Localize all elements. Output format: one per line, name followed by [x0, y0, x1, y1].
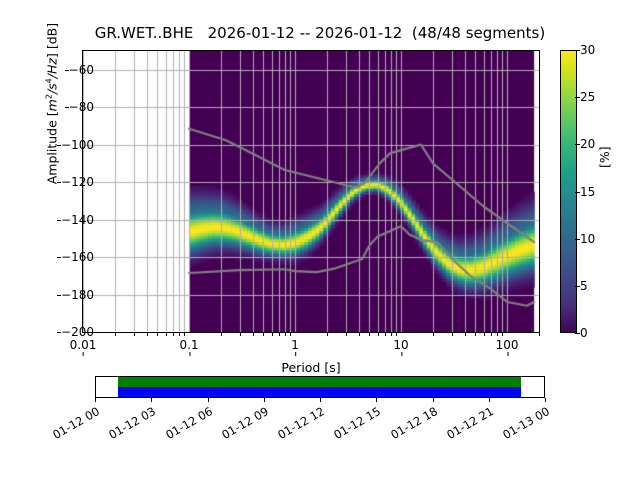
x-minor-tick	[290, 333, 291, 336]
x-minor-tick	[240, 333, 241, 336]
x-tick-label: 100	[496, 338, 519, 352]
y-tick-mark	[57, 257, 61, 258]
x-minor-tick	[369, 333, 370, 336]
timeline-tick-label: 01-12 21	[439, 404, 496, 445]
colorbar-tick-mark	[575, 97, 580, 98]
timeline-tick-label: 01-12 09	[214, 404, 271, 445]
x-minor-tick	[272, 333, 273, 336]
timeline-tick-label: 01-12 00	[45, 404, 102, 445]
colorbar-tick-label: 10	[580, 232, 595, 246]
timeline-blue-band	[118, 387, 521, 397]
x-tick-mark	[295, 352, 296, 356]
timeline-tick-label: 01-12 18	[382, 404, 439, 445]
x-minor-tick	[157, 333, 158, 336]
y-tick-mark	[57, 182, 61, 183]
x-minor-tick	[147, 333, 148, 336]
x-axis-label: Period [s]	[82, 360, 540, 375]
timeline-tick-label: 01-12 15	[326, 404, 383, 445]
y-tick-label: −60	[69, 63, 94, 77]
y-tick-label: −180	[61, 288, 94, 302]
colorbar-tick-mark	[575, 286, 580, 287]
x-minor-tick	[221, 333, 222, 336]
x-tick-label: 0.01	[70, 338, 97, 352]
timeline-tick-label: 01-13 00	[495, 404, 552, 445]
y-tick-mark	[65, 107, 69, 108]
y-tick-mark	[57, 220, 61, 221]
timeline-tick-mark	[376, 398, 377, 402]
y-tick-mark	[57, 295, 61, 296]
x-minor-tick	[346, 333, 347, 336]
x-minor-tick	[134, 333, 135, 336]
page-title: GR.WET..BHE 2026-01-12 -- 2026-01-12 (48…	[0, 24, 640, 42]
x-minor-tick	[279, 333, 280, 336]
y-tick-label: −80	[69, 100, 94, 114]
x-minor-tick	[475, 333, 476, 336]
x-minor-tick	[433, 333, 434, 336]
colorbar-tick-label: 0	[580, 326, 588, 340]
timeline-tick-label: 01-12 12	[270, 404, 327, 445]
ppsd-canvas	[83, 51, 539, 332]
colorbar-tick-label: 5	[580, 279, 588, 293]
x-tick-mark	[401, 352, 402, 356]
timeline-tick-mark	[208, 398, 209, 402]
timeline-tick-mark	[95, 398, 96, 402]
x-minor-tick	[253, 333, 254, 336]
x-minor-tick	[491, 333, 492, 336]
timeline-tick-mark	[320, 398, 321, 402]
x-minor-tick	[327, 333, 328, 336]
timeline-tick-mark	[264, 398, 265, 402]
x-minor-tick	[184, 333, 185, 336]
y-tick-label: −200	[61, 325, 94, 339]
x-minor-tick	[173, 333, 174, 336]
x-tick-mark	[83, 352, 84, 356]
timeline-tick-label: 01-12 03	[101, 404, 158, 445]
x-minor-tick	[497, 333, 498, 336]
colorbar-tick-label: 30	[580, 43, 595, 57]
x-minor-tick	[385, 333, 386, 336]
colorbar-tick-mark	[575, 239, 580, 240]
x-tick-label: 1	[291, 338, 299, 352]
y-tick-label: −140	[61, 213, 94, 227]
x-minor-tick	[179, 333, 180, 336]
y-tick-label: −100	[61, 138, 94, 152]
colorbar-tick-mark	[575, 333, 580, 334]
colorbar-tick-mark	[575, 144, 580, 145]
x-minor-tick	[263, 333, 264, 336]
colorbar-tick-label: 20	[580, 137, 595, 151]
x-minor-tick	[502, 333, 503, 336]
timeline-green-band	[118, 377, 521, 387]
x-tick-mark	[507, 352, 508, 356]
colorbar-tick-mark	[575, 192, 580, 193]
timeline-tick-mark	[151, 398, 152, 402]
x-tick-label: 10	[393, 338, 408, 352]
x-tick-label: 0.1	[179, 338, 198, 352]
x-minor-tick	[391, 333, 392, 336]
timeline-tick-mark	[489, 398, 490, 402]
colorbar-tick-mark	[575, 50, 580, 51]
x-tick-mark	[189, 352, 190, 356]
colorbar-tick-label: 25	[580, 90, 595, 104]
timeline-coverage-bar[interactable]	[95, 376, 545, 398]
timeline-tick-mark	[545, 398, 546, 402]
x-minor-tick	[115, 333, 116, 336]
x-minor-tick	[285, 333, 286, 336]
x-minor-tick	[452, 333, 453, 336]
x-minor-tick	[465, 333, 466, 336]
y-tick-mark	[57, 332, 61, 333]
timeline-tick-label: 01-12 06	[157, 404, 214, 445]
timeline-tick-mark	[433, 398, 434, 402]
y-tick-mark	[57, 145, 61, 146]
x-minor-tick	[359, 333, 360, 336]
ppsd-plot-area[interactable]	[82, 50, 540, 333]
ppsd-figure: GR.WET..BHE 2026-01-12 -- 2026-01-12 (48…	[0, 0, 640, 480]
x-minor-tick	[539, 333, 540, 336]
x-minor-tick	[378, 333, 379, 336]
colorbar-tick-label: 15	[580, 185, 595, 199]
x-minor-tick	[484, 333, 485, 336]
colorbar-label: [%]	[597, 108, 612, 168]
y-tick-label: −160	[61, 250, 94, 264]
x-minor-tick	[166, 333, 167, 336]
y-tick-label: −120	[61, 175, 94, 189]
x-minor-tick	[396, 333, 397, 336]
y-tick-mark	[65, 70, 69, 71]
